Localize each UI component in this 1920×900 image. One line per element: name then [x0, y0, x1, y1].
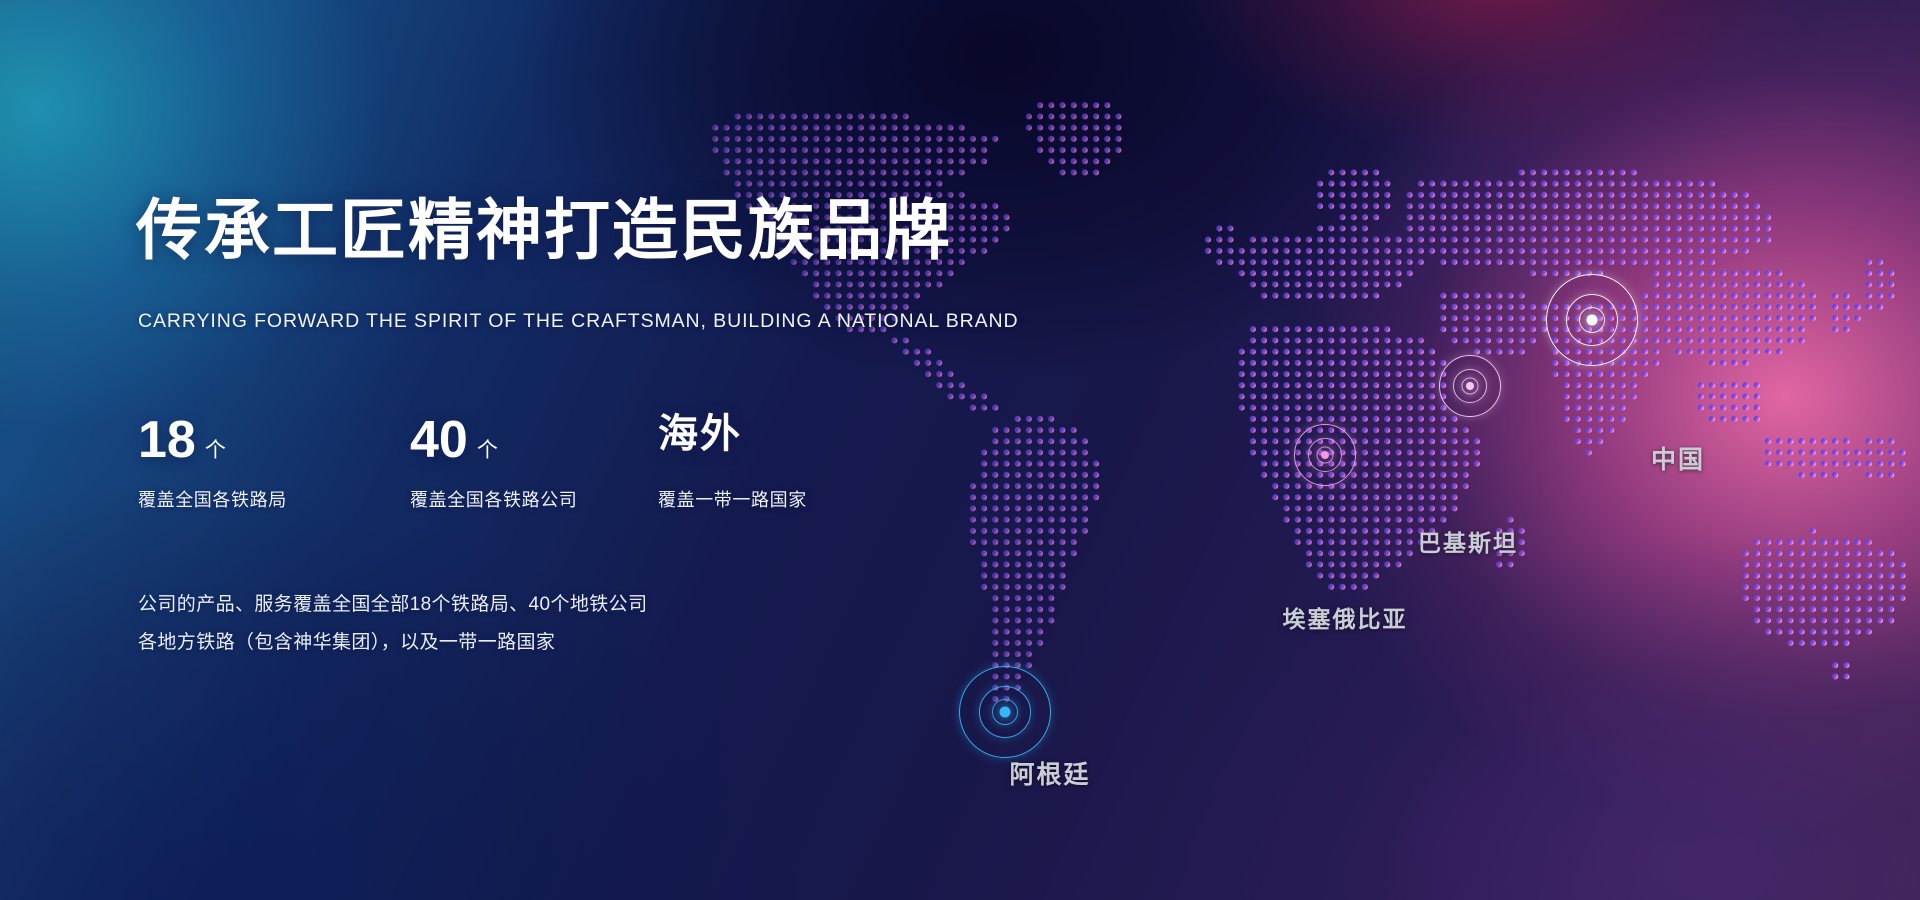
map-marker-3	[959, 666, 1051, 758]
marker-ring-1-icon	[1453, 369, 1487, 403]
banner-content: 传承工匠精神打造民族品牌 CARRYING FORWARD THE SPIRIT…	[136, 0, 1036, 900]
marker-ring-0-icon	[1294, 424, 1356, 486]
marker-ring-1-icon	[979, 686, 1031, 738]
stat-value: 18	[138, 414, 196, 466]
marker-ring-2-icon	[992, 699, 1018, 725]
marker-ring-0-icon	[1439, 355, 1501, 417]
marker-ring-2-icon	[1317, 447, 1334, 464]
background-magenta-glow	[0, 0, 1920, 900]
stat-unit: 个	[477, 440, 498, 461]
world-map-dot-matrix	[700, 90, 1920, 810]
marker-ring-0-icon	[959, 666, 1051, 758]
map-marker-0	[1546, 274, 1638, 366]
marker-ring-1-icon	[1308, 438, 1342, 472]
map-marker-2	[1294, 424, 1356, 486]
paragraph-line-2: 各地方铁路（包含神华集团），以及一带一路国家	[138, 624, 647, 662]
map-marker-label-2: 埃塞俄比亚	[1283, 600, 1408, 634]
marker-core-icon	[1000, 707, 1011, 718]
description-paragraph: 公司的产品、服务覆盖全国全部18个铁路局、40个地铁公司 各地方铁路（包含神华集…	[138, 586, 647, 662]
stat-description: 覆盖一带一路国家	[658, 486, 898, 512]
map-marker-label-3: 阿根廷	[1009, 755, 1090, 791]
background-base-gradient	[0, 0, 1920, 900]
stat-block-railway-bureaus: 18 个 覆盖全国各铁路局	[138, 414, 410, 512]
background-dark-vignette	[0, 0, 1920, 900]
background-diagonal-sheen	[0, 0, 1920, 900]
stat-top: 40 个	[410, 414, 658, 476]
stat-description: 覆盖全国各铁路公司	[410, 486, 658, 512]
stat-block-overseas: 海外 覆盖一带一路国家	[658, 414, 898, 512]
marker-core-icon	[1321, 451, 1329, 459]
background-navy-sink	[0, 0, 1920, 900]
stat-value: 40	[410, 414, 468, 466]
background-teal-glow	[0, 0, 1920, 900]
stats-row: 18 个 覆盖全国各铁路局 40 个 覆盖全国各铁路公司 海外 覆盖一带一路国家	[138, 414, 898, 512]
stat-unit: 个	[205, 440, 226, 461]
marker-ring-2-icon	[1462, 378, 1479, 395]
hero-banner: 中国巴基斯坦埃塞俄比亚阿根廷 传承工匠精神打造民族品牌 CARRYING FOR…	[0, 0, 1920, 900]
marker-ring-0-icon	[1546, 274, 1638, 366]
marker-core-icon	[1587, 315, 1598, 326]
background-violet-glow	[0, 0, 1920, 900]
marker-core-icon	[1466, 382, 1474, 390]
map-marker-label-1: 巴基斯坦	[1418, 524, 1518, 558]
background-crimson-glow	[0, 0, 1920, 900]
stat-description: 覆盖全国各铁路局	[138, 486, 410, 512]
dotted-world-map	[700, 90, 1920, 810]
stat-top: 海外	[658, 414, 898, 476]
marker-ring-1-icon	[1566, 294, 1618, 346]
stat-block-metro-companies: 40 个 覆盖全国各铁路公司	[410, 414, 658, 512]
page-subtitle: CARRYING FORWARD THE SPIRIT OF THE CRAFT…	[138, 310, 1019, 333]
map-marker-1	[1439, 355, 1501, 417]
marker-ring-2-icon	[1579, 307, 1605, 333]
stat-value: 海外	[658, 414, 742, 454]
page-title: 传承工匠精神打造民族品牌	[136, 197, 952, 263]
paragraph-line-1: 公司的产品、服务覆盖全国全部18个铁路局、40个地铁公司	[138, 586, 647, 624]
map-marker-label-0: 中国	[1651, 440, 1705, 476]
stat-top: 18 个	[138, 414, 410, 476]
